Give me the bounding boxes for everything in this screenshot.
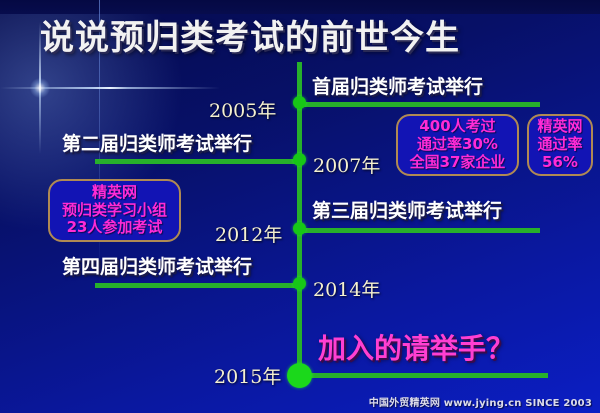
event-label-fourth-exam: 第四届归类师考试举行 bbox=[62, 252, 252, 279]
event-label-first-exam: 首届归类师考试举行 bbox=[312, 72, 483, 99]
footer-credit: 中国外贸精英网 www.jying.cn SINCE 2003 bbox=[369, 394, 592, 409]
callout-jyw-pass-rate-line-2: 通过率 bbox=[537, 136, 582, 154]
year-label-2015: 2015年 bbox=[214, 362, 281, 389]
timeline-branch-2012 bbox=[299, 228, 540, 233]
timeline-branch-2014 bbox=[95, 283, 301, 288]
callout-stats-2007-line-3: 全国37家企业 bbox=[410, 154, 506, 172]
callout-jyw-study-group-2012: 精英网 预归类学习小组 23人参加考试 bbox=[48, 179, 181, 242]
year-label-2014: 2014年 bbox=[313, 275, 380, 302]
lens-flare-core bbox=[30, 78, 50, 98]
callout-jyw-pass-rate-line-1: 精英网 bbox=[537, 118, 582, 136]
year-label-2012: 2012年 bbox=[215, 220, 282, 247]
callout-jyw-study-group-line-3: 23人参加考试 bbox=[67, 219, 163, 237]
timeline-node-2012[interactable] bbox=[293, 222, 306, 235]
callout-stats-2007-line-2: 通过率30% bbox=[417, 136, 498, 154]
timeline-branch-2015 bbox=[299, 373, 548, 378]
year-label-2007: 2007年 bbox=[313, 151, 380, 178]
call-to-action-text: 加入的请举手？ bbox=[318, 327, 514, 367]
timeline-node-2007[interactable] bbox=[293, 153, 306, 166]
timeline-node-2015[interactable] bbox=[287, 363, 312, 388]
timeline-branch-2005 bbox=[299, 102, 540, 107]
event-label-third-exam: 第三届归类师考试举行 bbox=[312, 196, 502, 223]
callout-stats-2007: 400人考过 通过率30% 全国37家企业 bbox=[396, 114, 519, 176]
timeline-node-2014[interactable] bbox=[293, 277, 306, 290]
callout-jyw-study-group-line-1: 精英网 bbox=[92, 184, 137, 202]
callout-jyw-pass-rate-2007: 精英网 通过率 56% bbox=[527, 114, 593, 176]
slide-canvas: 说说预归类考试的前世今生 2005年 2007年 2012年 2014年 201… bbox=[0, 0, 600, 413]
year-label-2005: 2005年 bbox=[209, 96, 276, 123]
timeline-branch-2007 bbox=[95, 159, 301, 164]
callout-jyw-pass-rate-line-3: 56% bbox=[542, 154, 578, 172]
callout-stats-2007-line-1: 400人考过 bbox=[419, 118, 495, 136]
timeline-node-2005[interactable] bbox=[293, 96, 306, 109]
slide-title: 说说预归类考试的前世今生 bbox=[40, 10, 460, 59]
callout-jyw-study-group-line-2: 预归类学习小组 bbox=[62, 202, 167, 220]
event-label-second-exam: 第二届归类师考试举行 bbox=[62, 129, 252, 156]
